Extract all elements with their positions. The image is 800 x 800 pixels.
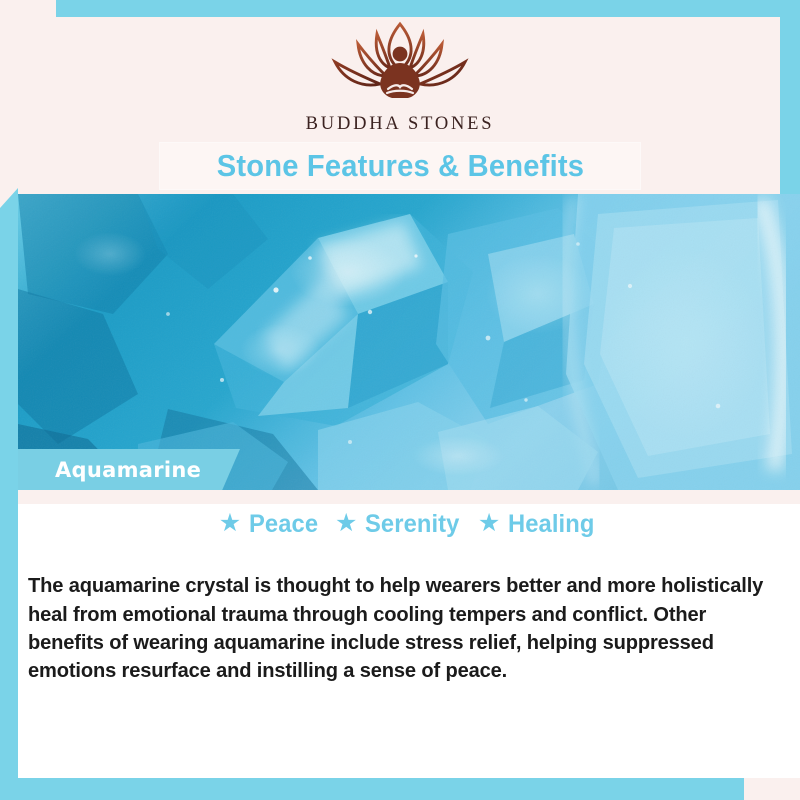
keyword-label: Peace (249, 510, 318, 539)
keyword-healing: ★ Healing (478, 510, 599, 539)
lotus-meditation-figure-icon (314, 18, 486, 110)
hero-image (18, 194, 800, 490)
brand-logo: BUDDHA STONES (0, 18, 800, 138)
star-icon: ★ (478, 511, 500, 536)
keyword-label: Serenity (365, 510, 459, 539)
benefit-keywords: ★ Peace ★ Serenity ★ Healing (18, 510, 800, 539)
stone-description: The aquamarine crystal is thought to hel… (28, 572, 782, 685)
brand-name: BUDDHA STONES (306, 114, 495, 135)
title-banner: Stone Features & Benefits (160, 143, 640, 189)
stone-name-label: Aquamarine (55, 458, 201, 482)
aquamarine-crystal-cluster-photo (18, 194, 800, 490)
decorative-band-bottom (0, 778, 744, 800)
keyword-label: Healing (508, 510, 594, 539)
content-panel: ★ Peace ★ Serenity ★ Healing The aquamar… (18, 490, 800, 778)
star-icon: ★ (219, 511, 241, 536)
stone-name-tag: Aquamarine (18, 449, 240, 490)
decorative-band-left (0, 188, 18, 800)
keyword-serenity: ★ Serenity (335, 510, 465, 539)
page-title: Stone Features & Benefits (216, 148, 583, 184)
poster-canvas: BUDDHA STONES Stone Features & Benefits (0, 0, 800, 800)
decorative-band-top (56, 0, 800, 17)
panel-top-strip (18, 490, 800, 504)
keyword-peace: ★ Peace (219, 510, 322, 539)
star-icon: ★ (335, 511, 357, 536)
